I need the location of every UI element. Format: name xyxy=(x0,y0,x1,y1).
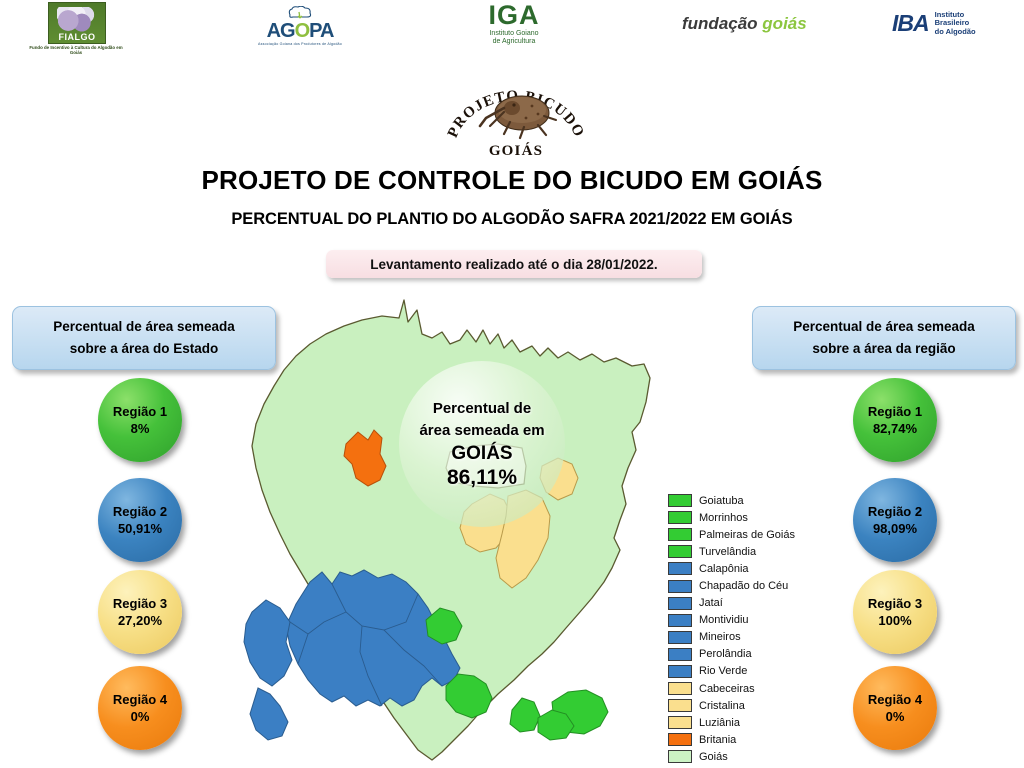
legend-color-swatch xyxy=(668,733,692,746)
right-heading-line2: sobre a área da região xyxy=(812,338,955,360)
agopa-tree-icon xyxy=(287,6,313,21)
right-region-3-bubble[interactable]: Região 3 100% xyxy=(853,570,937,654)
logo-fialgo: FIALGO Fundo de Incentivo à Cultura do A… xyxy=(48,2,128,55)
iga-line2: de Agricultura xyxy=(462,38,566,46)
projeto-bicudo-seal: PROJETO BICUDO GOIÁS xyxy=(446,70,586,160)
legend-item: Goiás xyxy=(668,748,808,765)
legend-item: Chapadão do Céu xyxy=(668,577,808,594)
agopa-wordmark: AGOPA xyxy=(248,21,352,41)
left-region-4-label: Região 4 xyxy=(113,691,167,708)
left-region-3-bubble[interactable]: Região 3 27,20% xyxy=(98,570,182,654)
right-region-4-label: Região 4 xyxy=(868,691,922,708)
iba-tagline: Instituto Brasileiro do Algodão xyxy=(935,11,976,37)
legend-item: Montividiu xyxy=(668,612,808,629)
legend-color-swatch xyxy=(668,699,692,712)
legend-color-swatch xyxy=(668,597,692,610)
legend-item-label: Luziânia xyxy=(699,717,740,729)
fundacao-wordmark: fundação goiás xyxy=(682,14,807,34)
legend-color-swatch xyxy=(668,665,692,678)
legend-item-label: Mineiros xyxy=(699,631,741,643)
legend-color-swatch xyxy=(668,750,692,763)
left-panel-heading: Percentual de área semeada sobre a área … xyxy=(12,306,276,370)
legend-item-label: Jataí xyxy=(699,597,723,609)
legend-item-label: Goiatuba xyxy=(699,495,744,507)
legend-item-label: Cristalina xyxy=(699,700,745,712)
fialgo-tagline: Fundo de Incentivo à Cultura do Algodão … xyxy=(24,45,128,55)
page-subtitle: PERCENTUAL DO PLANTIO DO ALGODÃO SAFRA 2… xyxy=(0,210,1024,229)
left-heading-line1: Percentual de área semeada xyxy=(53,316,235,338)
legend-item: Mineiros xyxy=(668,629,808,646)
right-panel-heading: Percentual de área semeada sobre a área … xyxy=(752,306,1016,370)
legend-item-label: Morrinhos xyxy=(699,512,748,524)
left-region-4-value: 0% xyxy=(131,708,150,725)
legend-color-swatch xyxy=(668,494,692,507)
right-region-3-label: Região 3 xyxy=(868,595,922,612)
legend-item: Perolândia xyxy=(668,646,808,663)
legend-item: Palmeiras de Goiás xyxy=(668,526,808,543)
state-total-value: 86,11% xyxy=(447,465,517,490)
logo-iga: IGA Instituto Goiano de Agricultura xyxy=(462,2,566,46)
legend-item-label: Turvelândia xyxy=(699,546,756,558)
page-title: PROJETO DE CONTROLE DO BICUDO EM GOIÁS xyxy=(0,165,1024,196)
legend-item-label: Montividiu xyxy=(699,614,749,626)
cotton-boll-icon xyxy=(57,7,97,33)
iga-wordmark: IGA xyxy=(462,2,566,29)
poster-root: FIALGO Fundo de Incentivo à Cultura do A… xyxy=(0,0,1024,768)
agopa-tagline: Associação Goiana dos Produtores de Algo… xyxy=(248,42,352,46)
left-region-1-value: 8% xyxy=(131,420,150,437)
legend-item-label: Calapônia xyxy=(699,563,749,575)
right-region-2-label: Região 2 xyxy=(868,503,922,520)
legend-color-swatch xyxy=(668,528,692,541)
legend-color-swatch xyxy=(668,631,692,644)
fialgo-mark-icon: FIALGO xyxy=(48,2,106,44)
logo-iba: IBA Instituto Brasileiro do Algodão xyxy=(892,10,976,37)
legend-item: Cristalina xyxy=(668,697,808,714)
legend-color-swatch xyxy=(668,545,692,558)
right-region-1-bubble[interactable]: Região 1 82,74% xyxy=(853,378,937,462)
legend-item: Rio Verde xyxy=(668,663,808,680)
left-region-4-bubble[interactable]: Região 4 0% xyxy=(98,666,182,750)
left-region-2-bubble[interactable]: Região 2 50,91% xyxy=(98,478,182,562)
left-region-2-label: Região 2 xyxy=(113,503,167,520)
map-legend: GoiatubaMorrinhosPalmeiras de GoiásTurve… xyxy=(668,492,808,766)
iba-line3: do Algodão xyxy=(935,28,976,37)
legend-item: Morrinhos xyxy=(668,509,808,526)
legend-item-label: Palmeiras de Goiás xyxy=(699,529,795,541)
legend-item: Britania xyxy=(668,731,808,748)
legend-item: Cabeceiras xyxy=(668,680,808,697)
legend-item-label: Chapadão do Céu xyxy=(699,580,788,592)
legend-color-swatch xyxy=(668,562,692,575)
agopa-pa: PA xyxy=(309,20,333,42)
legend-color-swatch xyxy=(668,580,692,593)
iga-line1: Instituto Goiano xyxy=(462,30,566,38)
legend-color-swatch xyxy=(668,648,692,661)
iba-wordmark: IBA xyxy=(892,10,929,37)
left-region-1-label: Região 1 xyxy=(113,403,167,420)
logo-agopa: AGOPA Associação Goiana dos Produtores d… xyxy=(248,6,352,46)
right-region-1-label: Região 1 xyxy=(868,403,922,420)
survey-date-badge: Levantamento realizado até o dia 28/01/2… xyxy=(326,250,702,278)
fialgo-wordmark: FIALGO xyxy=(49,32,105,42)
left-region-3-value: 27,20% xyxy=(118,612,162,629)
right-region-4-bubble[interactable]: Região 4 0% xyxy=(853,666,937,750)
left-region-1-bubble[interactable]: Região 1 8% xyxy=(98,378,182,462)
state-total-line1: Percentual de xyxy=(433,398,531,420)
legend-item-label: Rio Verde xyxy=(699,665,747,677)
legend-item: Turvelândia xyxy=(668,543,808,560)
legend-item-label: Goiás xyxy=(699,751,728,763)
legend-item-label: Britania xyxy=(699,734,736,746)
legend-color-swatch xyxy=(668,682,692,695)
fundacao-word2: goiás xyxy=(762,14,806,33)
right-region-4-value: 0% xyxy=(886,708,905,725)
state-total-line2: área semeada em xyxy=(419,420,544,442)
state-total-line3: GOIÁS xyxy=(451,442,512,465)
legend-item: Luziânia xyxy=(668,714,808,731)
legend-color-swatch xyxy=(668,511,692,524)
logo-fundacao-goias: fundação goiás xyxy=(682,14,807,34)
svg-text:GOIÁS: GOIÁS xyxy=(489,142,543,159)
legend-item-label: Cabeceiras xyxy=(699,683,755,695)
left-region-3-label: Região 3 xyxy=(113,595,167,612)
agopa-ag: AG xyxy=(267,20,295,42)
right-heading-line1: Percentual de área semeada xyxy=(793,316,975,338)
goias-state-map[interactable] xyxy=(236,282,656,768)
right-region-2-value: 98,09% xyxy=(873,520,917,537)
right-region-2-bubble[interactable]: Região 2 98,09% xyxy=(853,478,937,562)
legend-color-swatch xyxy=(668,716,692,729)
agopa-o: O xyxy=(295,20,310,42)
left-heading-line2: sobre a área do Estado xyxy=(70,338,219,360)
legend-color-swatch xyxy=(668,614,692,627)
legend-item-label: Perolândia xyxy=(699,648,752,660)
left-region-2-value: 50,91% xyxy=(118,520,162,537)
fundacao-word1: fundação xyxy=(682,14,758,33)
legend-item: Goiatuba xyxy=(668,492,808,509)
sponsor-logo-strip: FIALGO Fundo de Incentivo à Cultura do A… xyxy=(0,0,1024,56)
legend-item: Jataí xyxy=(668,595,808,612)
right-region-3-value: 100% xyxy=(878,612,911,629)
legend-item: Calapônia xyxy=(668,560,808,577)
right-region-1-value: 82,74% xyxy=(873,420,917,437)
state-total-bubble: Percentual de área semeada em GOIÁS 86,1… xyxy=(399,361,565,527)
